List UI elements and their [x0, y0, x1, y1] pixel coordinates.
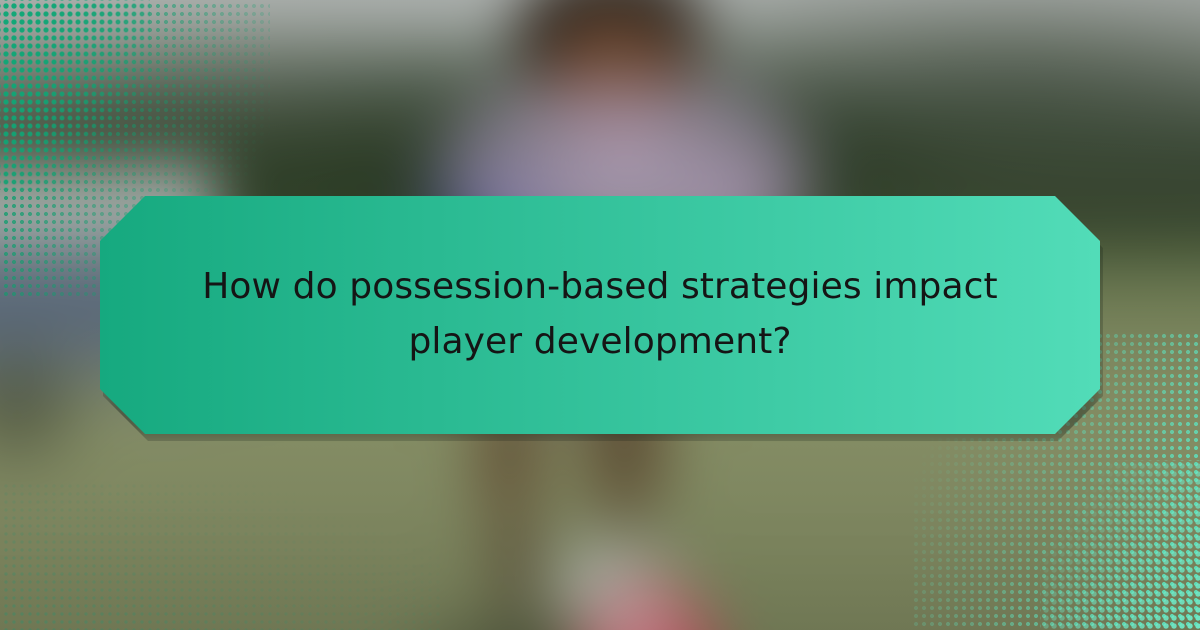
- headline-card: How do possession-based strategies impac…: [100, 196, 1100, 434]
- social-card-canvas: How do possession-based strategies impac…: [0, 0, 1200, 630]
- headline-title: How do possession-based strategies impac…: [170, 260, 1030, 369]
- photo-left-object: [0, 332, 112, 517]
